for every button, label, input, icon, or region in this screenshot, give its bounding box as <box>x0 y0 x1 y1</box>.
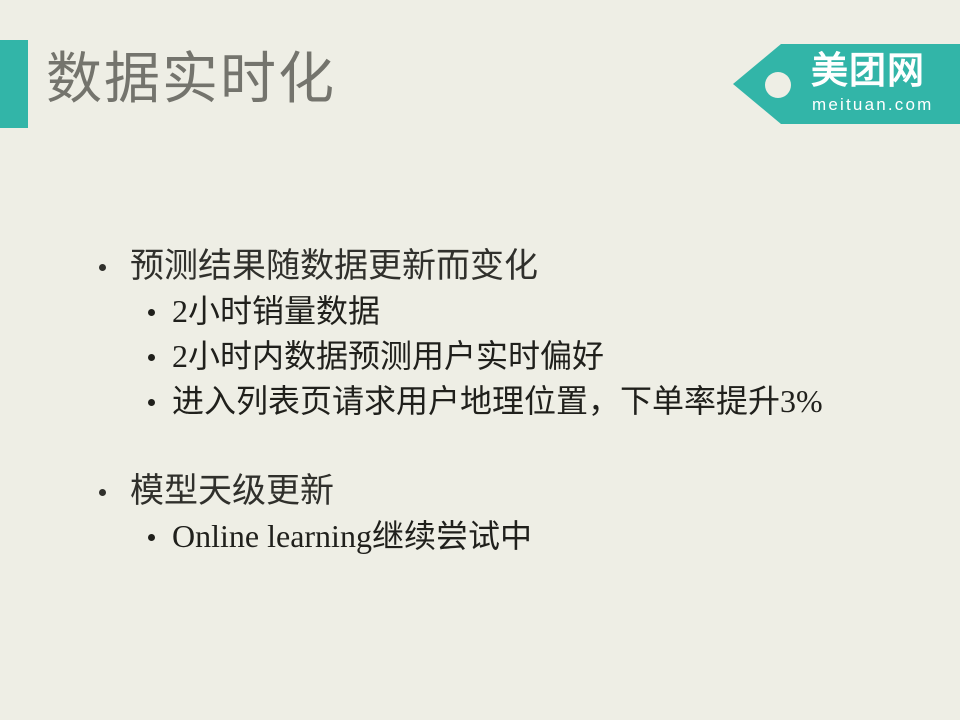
list-item: 预测结果随数据更新而变化 <box>0 244 960 289</box>
list-item: 进入列表页请求用户地理位置，下单率提升3% <box>0 379 960 424</box>
list-item-label: 2小时销量数据 <box>172 293 380 329</box>
logo-brand-name: 美团网 <box>811 48 925 94</box>
slide-body: 预测结果随数据更新而变化 2小时销量数据 2小时内数据预测用户实时偏好 进入列表… <box>0 244 960 559</box>
list-item-label: Online learning继续尝试中 <box>172 518 532 554</box>
list-item-label: 预测结果随数据更新而变化 <box>130 248 538 285</box>
bullet-dot-icon <box>148 309 155 316</box>
list-item-label: 2小时内数据预测用户实时偏好 <box>172 338 604 374</box>
list-item: 模型天级更新 <box>0 469 960 514</box>
bullet-dot-icon <box>148 399 155 406</box>
list-item: 2小时销量数据 <box>0 289 960 334</box>
bullet-dot-icon <box>99 489 106 496</box>
block-spacer <box>0 424 960 469</box>
title-accent-bar <box>0 40 28 128</box>
list-item: 2小时内数据预测用户实时偏好 <box>0 334 960 379</box>
bullet-dot-icon <box>99 264 106 271</box>
slide-canvas: 数据实时化 美团网 meituan.com 预测结果随数据更新而变化 2小时销量… <box>0 0 960 720</box>
bullet-dot-icon <box>148 354 155 361</box>
meituan-logo[interactable]: 美团网 meituan.com <box>733 44 960 124</box>
list-item-label: 进入列表页请求用户地理位置，下单率提升3% <box>172 383 823 419</box>
logo-brand-url: meituan.com <box>812 94 934 116</box>
page-title: 数据实时化 <box>46 44 336 116</box>
list-item-label: 模型天级更新 <box>130 473 334 510</box>
logo-hole-icon <box>765 72 791 98</box>
bullet-dot-icon <box>148 534 155 541</box>
list-item: Online learning继续尝试中 <box>0 514 960 559</box>
